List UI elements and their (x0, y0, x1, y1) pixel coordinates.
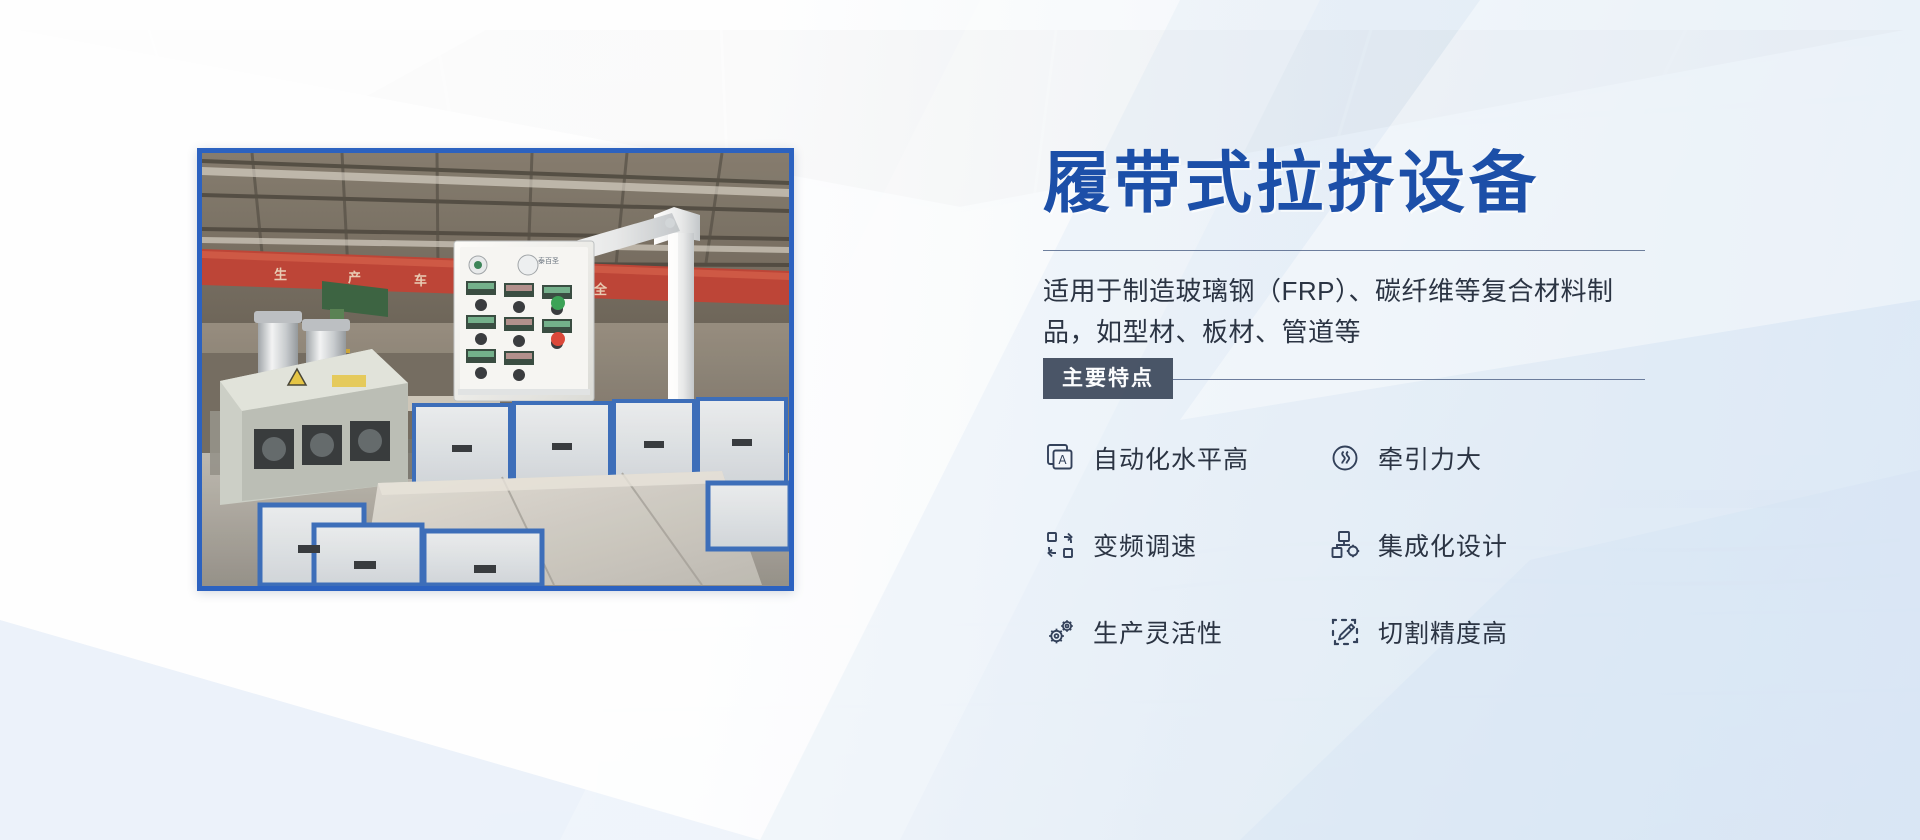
feature-item-frequency: 变频调速 (1043, 527, 1328, 563)
product-photo: 生产 车间 安全 (202, 153, 789, 586)
letter-a-layers-icon: A (1043, 441, 1077, 475)
feature-label: 牵引力大 (1378, 440, 1482, 476)
feature-label: 生产灵活性 (1093, 614, 1223, 650)
feature-item-cutting-precision: 切割精度高 (1328, 614, 1613, 650)
banner-content: 履带式拉挤设备 适用于制造玻璃钢（FRP）、碳纤维等复合材料制品，如型材、板材、… (1043, 150, 1653, 650)
frequency-nodes-icon (1043, 528, 1077, 562)
feature-item-flexibility: 生产灵活性 (1043, 614, 1328, 650)
status-badge: 主要特点 (1043, 358, 1173, 399)
product-photo-card: 生产 车间 安全 (197, 148, 794, 591)
page-title: 履带式拉挤设备 (1043, 150, 1653, 217)
traction-wave-circle-icon (1328, 441, 1362, 475)
divider-middle: 主要特点 (1043, 379, 1645, 380)
feature-label: 切割精度高 (1378, 614, 1508, 650)
svg-text:A: A (1058, 453, 1067, 467)
banner-stage: 生产 车间 安全 (0, 0, 1920, 840)
banner-subtitle: 适用于制造玻璃钢（FRP）、碳纤维等复合材料制品，如型材、板材、管道等 (1043, 271, 1643, 353)
feature-list: A 自动化水平高 牵引力大 (1043, 440, 1653, 650)
divider-top (1043, 250, 1645, 251)
feature-item-traction: 牵引力大 (1328, 440, 1613, 476)
gears-icon (1043, 615, 1077, 649)
feature-item-integration: 集成化设计 (1328, 527, 1613, 563)
feature-label: 自动化水平高 (1093, 440, 1249, 476)
feature-label: 变频调速 (1093, 527, 1197, 563)
feature-label: 集成化设计 (1378, 527, 1508, 563)
integration-nodes-gear-icon (1328, 528, 1362, 562)
precision-pen-dashed-icon (1328, 615, 1362, 649)
feature-item-automation: A 自动化水平高 (1043, 440, 1328, 476)
